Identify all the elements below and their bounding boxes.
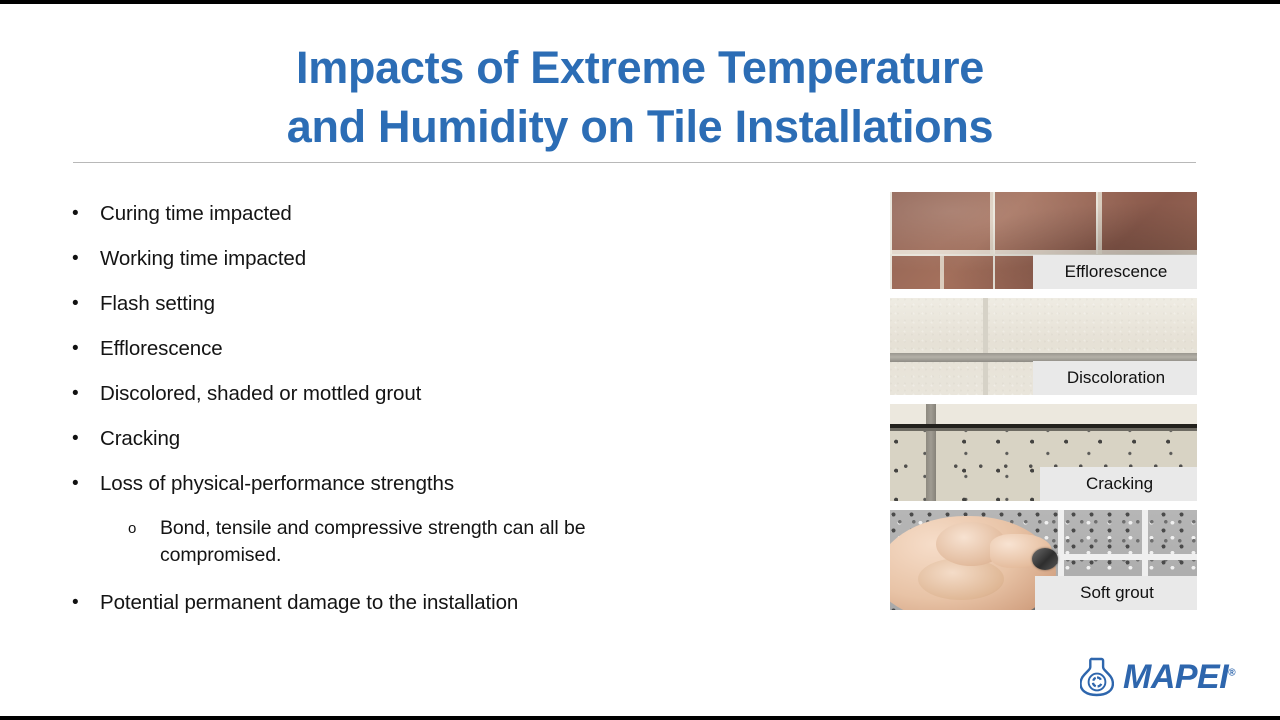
bullet-list: • Curing time impacted • Working time im… [66,200,856,634]
bullet-marker: • [66,335,100,363]
trademark-symbol: ® [1228,668,1235,679]
title-line-1: Impacts of Extreme Temperature [0,38,1280,97]
bullet-marker: • [66,425,100,453]
mapei-logo: MAPEI® [1080,657,1235,697]
photo-caption: Cracking [1040,467,1197,501]
photo-caption: Soft grout [1035,576,1197,610]
photo-caption: Efflorescence [1033,255,1197,289]
logo-name: MAPEI [1123,658,1228,696]
list-item: • Cracking [66,425,856,453]
letterbox-bottom [0,716,1280,720]
discoloration-photo: Discoloration [890,298,1197,395]
mapei-wordmark: MAPEI® [1123,660,1235,694]
efflorescence-photo: Efflorescence [890,192,1197,289]
title-line-2: and Humidity on Tile Installations [0,97,1280,156]
bullet-text: Curing time impacted [100,200,292,228]
bullet-marker: • [66,290,100,318]
list-item: • Flash setting [66,290,856,318]
bullet-marker: • [66,589,100,617]
mapei-flask-icon [1080,657,1114,697]
list-item: • Discolored, shaded or mottled grout [66,380,856,408]
bullet-marker: • [66,380,100,408]
list-item: • Curing time impacted [66,200,856,228]
presentation-slide: Impacts of Extreme Temperature and Humid… [0,4,1280,716]
bullet-text: Working time impacted [100,245,306,273]
photo-caption: Discoloration [1033,361,1197,395]
bullet-text: Discolored, shaded or mottled grout [100,380,421,408]
bullet-marker: • [66,245,100,273]
bullet-marker: • [66,470,100,498]
list-item: • Loss of physical-performance strengths [66,470,856,498]
sub-bullet-marker: o [126,515,160,543]
bullet-text: Efflorescence [100,335,223,363]
soft-grout-photo: Soft grout [890,510,1197,610]
bullet-text: Flash setting [100,290,215,318]
sub-list-item: o Bond, tensile and compressive strength… [66,515,856,569]
cracking-photo: Cracking [890,404,1197,501]
bullet-text: Cracking [100,425,180,453]
list-item: • Working time impacted [66,245,856,273]
sub-bullet-text: Bond, tensile and compressive strength c… [160,515,680,569]
bullet-text: Loss of physical-performance strengths [100,470,454,498]
bullet-marker: • [66,200,100,228]
bullet-text: Potential permanent damage to the instal… [100,589,518,617]
list-item: • Potential permanent damage to the inst… [66,589,856,617]
list-item: • Efflorescence [66,335,856,363]
page-title: Impacts of Extreme Temperature and Humid… [0,38,1280,157]
photo-strip: Efflorescence Discoloration Cracking [890,192,1197,619]
title-divider [73,162,1196,163]
